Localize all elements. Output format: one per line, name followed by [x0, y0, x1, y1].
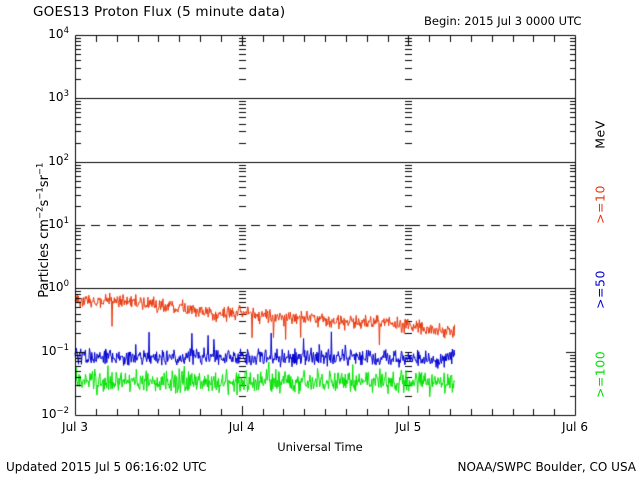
y-tick-label: 101 [23, 217, 69, 231]
x-tick-label: Jul 3 [40, 420, 110, 434]
x-tick-label: Jul 5 [373, 420, 443, 434]
y-tick-label: 103 [23, 90, 69, 104]
proton-flux-plot [0, 0, 640, 480]
legend-units: MeV [593, 95, 608, 175]
y-tick-label: 104 [23, 27, 69, 41]
footer-updated-timestamp: Updated 2015 Jul 5 06:16:02 UTC [6, 460, 206, 474]
legend-ge10: >=10 [593, 165, 608, 245]
footer-source-agency: NOAA/SWPC Boulder, CO USA [458, 460, 636, 474]
y-tick-label: 100 [23, 280, 69, 294]
x-tick-label: Jul 6 [540, 420, 610, 434]
legend-ge50: >=50 [593, 250, 608, 330]
y-tick-label: 10−2 [23, 407, 69, 421]
chart-page: GOES13 Proton Flux (5 minute data) Begin… [0, 0, 640, 480]
x-tick-label: Jul 4 [207, 420, 277, 434]
legend-ge100: >=100 [593, 335, 608, 415]
y-tick-label: 10−1 [23, 344, 69, 358]
y-tick-label: 102 [23, 154, 69, 168]
x-axis-label: Universal Time [0, 440, 640, 454]
